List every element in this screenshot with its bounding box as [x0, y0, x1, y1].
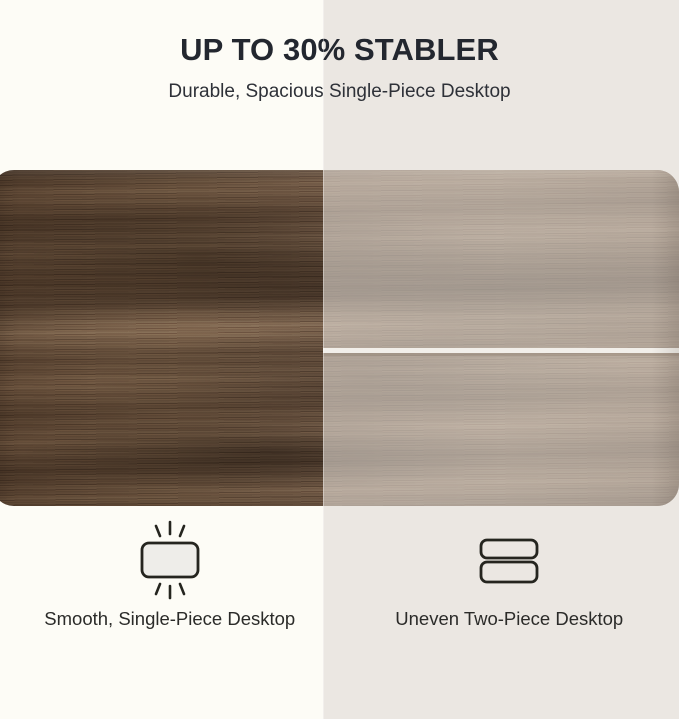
two-piece-seam-shadow: [323, 353, 679, 356]
promo-graphic: UP TO 30% STABLER Durable, Spacious Sing…: [0, 0, 679, 719]
comparison-column-left: Smooth, Single-Piece Desktop: [0, 506, 340, 719]
page-subtitle: Durable, Spacious Single-Piece Desktop: [0, 67, 679, 104]
comparison-column-right: Uneven Two-Piece Desktop: [340, 506, 679, 719]
single-piece-desktop-icon: [122, 506, 218, 606]
comparison-label-left: Smooth, Single-Piece Desktop: [44, 606, 295, 632]
desktop-product-image: [0, 170, 679, 506]
header: UP TO 30% STABLER Durable, Spacious Sing…: [0, 0, 679, 104]
right-half-tint-overlay: [323, 170, 679, 506]
comparison-label-right: Uneven Two-Piece Desktop: [395, 606, 623, 632]
page-title: UP TO 30% STABLER: [0, 0, 679, 67]
comparison-row: Smooth, Single-Piece Desktop Uneven Two-…: [0, 506, 679, 719]
two-piece-desktop-icon: [461, 506, 557, 606]
